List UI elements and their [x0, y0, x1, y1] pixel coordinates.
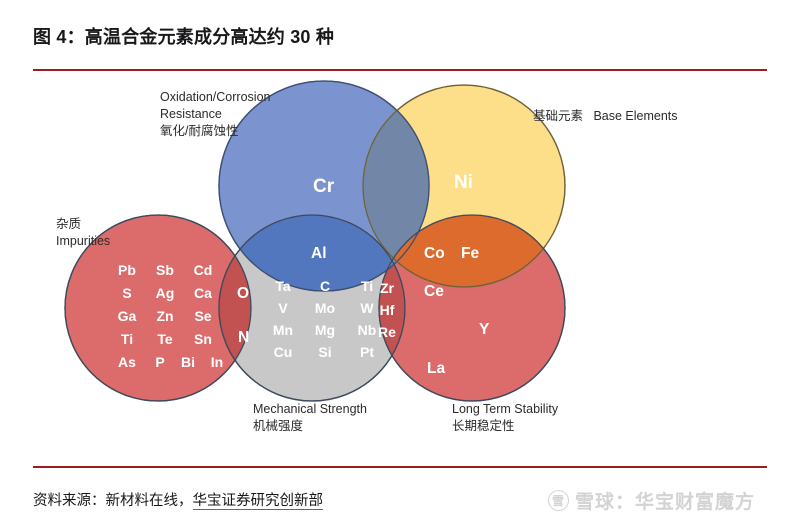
label-mechanical-cn: 机械强度: [253, 418, 367, 435]
source-prefix: 资料来源：新材料在线，: [33, 493, 193, 509]
label-impurities: 杂质 Impurities: [56, 216, 110, 250]
label-base-en: Base Elements: [593, 109, 677, 123]
label-oxidation-cn: 氧化/耐腐蚀性: [160, 123, 270, 140]
label-longterm-en: Long Term Stability: [452, 401, 558, 418]
xueqiu-logo-icon: 雪: [548, 490, 569, 511]
label-longterm-cn: 长期稳定性: [452, 418, 558, 435]
label-long-term-stability: Long Term Stability 长期稳定性: [452, 401, 558, 435]
label-base-elements: 基础元素 Base Elements: [533, 108, 678, 125]
watermark-text: 雪球：华宝财富魔方: [575, 487, 755, 514]
page-title: 图 4：高温合金元素成分高达约 30 种: [33, 23, 334, 49]
label-mechanical-en: Mechanical Strength: [253, 401, 367, 418]
label-oxidation-line2: Resistance: [160, 106, 270, 123]
footer-divider: [33, 466, 767, 468]
source-link[interactable]: 华宝证券研究创新部: [193, 493, 324, 510]
figure-page: 图 4：高温合金元素成分高达约 30 种: [0, 0, 800, 523]
label-oxidation-resistance: Oxidation/Corrosion Resistance 氧化/耐腐蚀性: [160, 89, 270, 140]
venn-diagram: [0, 78, 800, 460]
label-base-cn: 基础元素: [533, 109, 583, 123]
label-oxidation-line1: Oxidation/Corrosion: [160, 89, 270, 106]
header-divider: [33, 69, 767, 71]
label-impurities-en: Impurities: [56, 233, 110, 250]
label-mechanical-strength: Mechanical Strength 机械强度: [253, 401, 367, 435]
label-impurities-cn: 杂质: [56, 216, 110, 233]
source-note: 资料来源：新材料在线，华宝证券研究创新部: [33, 489, 323, 510]
watermark: 雪 雪球：华宝财富魔方: [548, 487, 755, 514]
